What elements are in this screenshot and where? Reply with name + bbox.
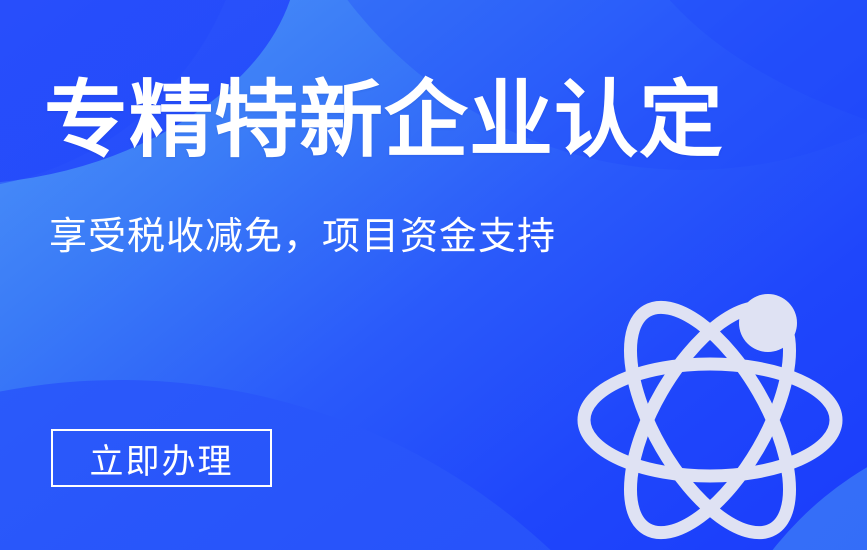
atom-icon: [575, 285, 850, 545]
banner-content: 专精特新企业认定 享受税收减免，项目资金支持 立即办理: [0, 0, 867, 550]
apply-now-button[interactable]: 立即办理: [51, 429, 272, 487]
banner-subtitle: 享受税收减免，项目资金支持: [49, 215, 556, 261]
atom-orbit-horizontal: [584, 364, 836, 476]
atom-electron-dot: [739, 294, 797, 352]
promo-banner: 专精特新企业认定 享受税收减免，项目资金支持 立即办理: [0, 0, 867, 550]
page-title: 专精特新企业认定: [44, 78, 724, 162]
